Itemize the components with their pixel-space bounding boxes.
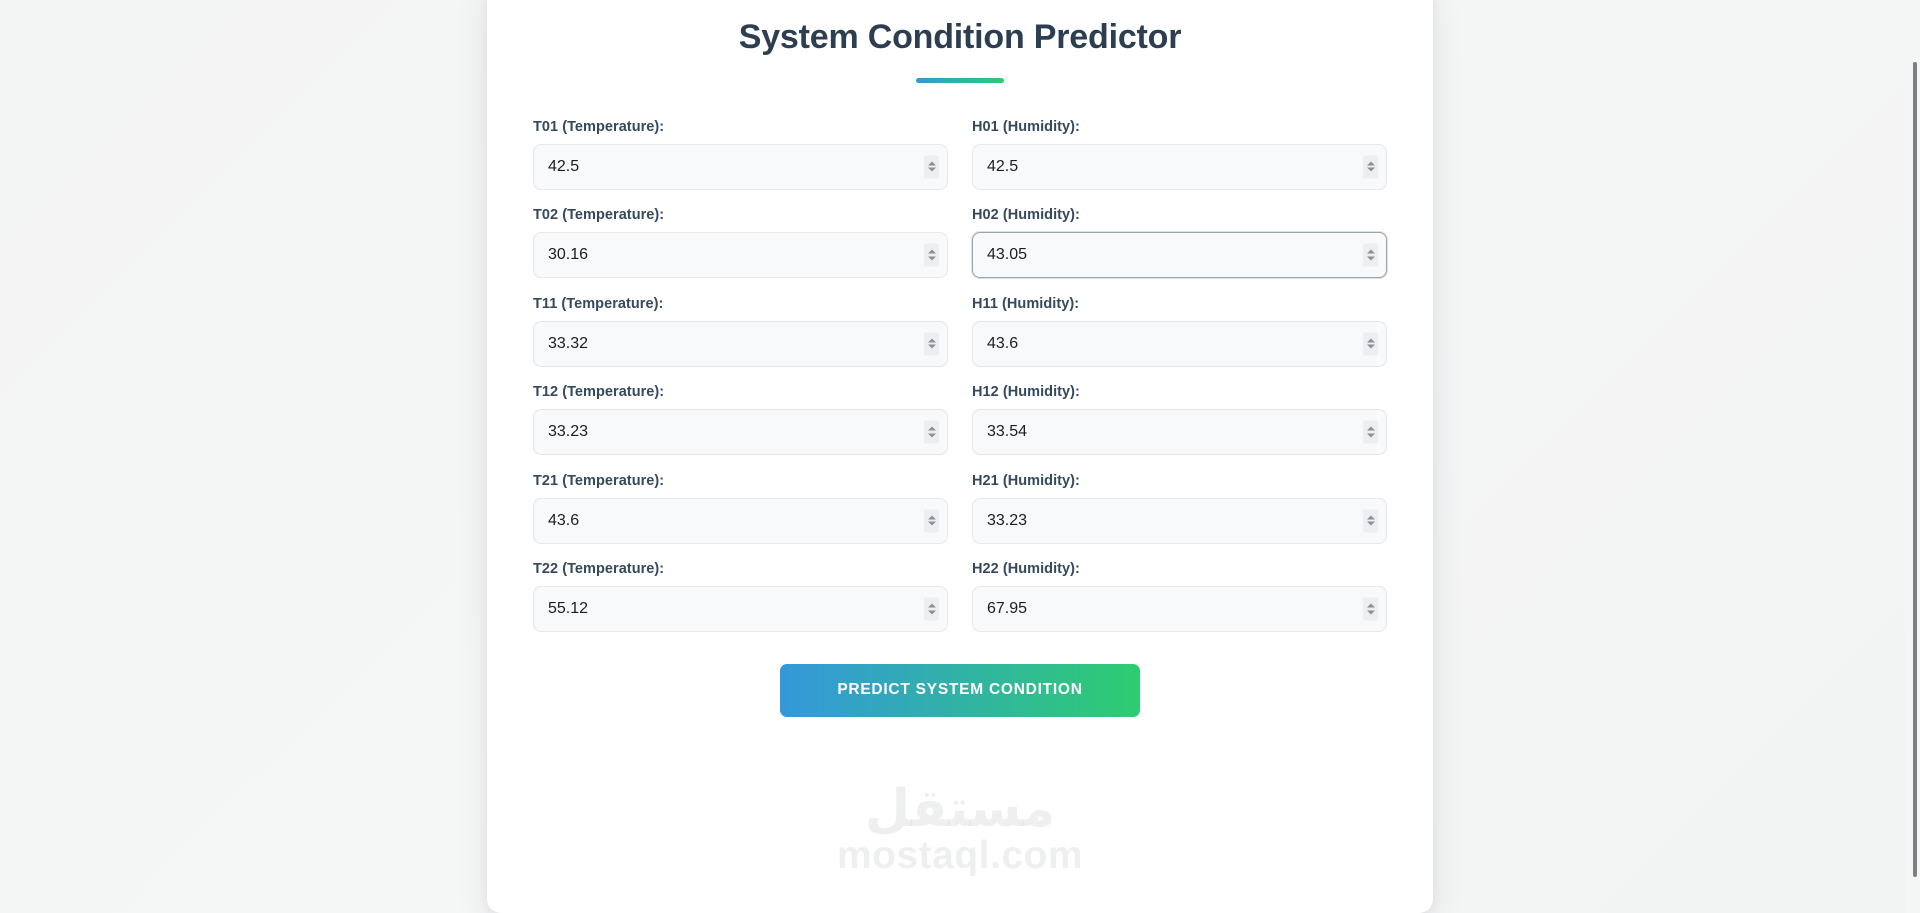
app-page: System Condition Predictor T01 (Temperat…: [0, 0, 1920, 913]
input-wrap-t02: [533, 232, 948, 278]
input-wrap-t12: [533, 409, 948, 455]
field-t01: T01 (Temperature):: [533, 119, 948, 190]
watermark: مستقل mostaql.com: [837, 785, 1083, 877]
input-wrap-h12: [972, 409, 1387, 455]
stepper-updown-icon[interactable]: [924, 332, 939, 355]
title-accent-rule: [916, 78, 1004, 83]
input-t01[interactable]: [533, 144, 948, 190]
input-t11[interactable]: [533, 321, 948, 367]
field-label-h01: H01 (Humidity):: [972, 119, 1387, 135]
stepper-updown-icon[interactable]: [924, 244, 939, 267]
field-t22: T22 (Temperature):: [533, 561, 948, 632]
predict-system-condition-button[interactable]: Predict System Condition: [780, 664, 1140, 717]
input-h11[interactable]: [972, 321, 1387, 367]
field-h11: H11 (Humidity):: [972, 296, 1387, 367]
stepper-updown-icon[interactable]: [1363, 244, 1378, 267]
stepper-updown-icon[interactable]: [1363, 598, 1378, 621]
field-t11: T11 (Temperature):: [533, 296, 948, 367]
stepper-updown-icon[interactable]: [1363, 421, 1378, 444]
input-wrap-h21: [972, 498, 1387, 544]
input-h12[interactable]: [972, 409, 1387, 455]
stepper-updown-icon[interactable]: [924, 155, 939, 178]
input-wrap-h01: [972, 144, 1387, 190]
field-label-h11: H11 (Humidity):: [972, 296, 1387, 312]
stepper-updown-icon[interactable]: [1363, 509, 1378, 532]
watermark-latin-text: mostaql.com: [837, 836, 1083, 877]
field-h12: H12 (Humidity):: [972, 384, 1387, 455]
vertical-scrollbar-track[interactable]: [1905, 0, 1920, 913]
input-h02[interactable]: [972, 232, 1387, 278]
field-h02: H02 (Humidity):: [972, 207, 1387, 278]
stepper-updown-icon[interactable]: [924, 598, 939, 621]
field-t02: T02 (Temperature):: [533, 207, 948, 278]
field-label-h02: H02 (Humidity):: [972, 207, 1387, 223]
field-h01: H01 (Humidity):: [972, 119, 1387, 190]
stepper-updown-icon[interactable]: [924, 421, 939, 444]
page-title: System Condition Predictor: [533, 16, 1387, 59]
input-wrap-h11: [972, 321, 1387, 367]
input-wrap-t22: [533, 586, 948, 632]
input-wrap-t21: [533, 498, 948, 544]
field-t21: T21 (Temperature):: [533, 473, 948, 544]
field-label-t22: T22 (Temperature):: [533, 561, 948, 577]
stepper-updown-icon[interactable]: [1363, 332, 1378, 355]
input-h22[interactable]: [972, 586, 1387, 632]
field-label-t12: T12 (Temperature):: [533, 384, 948, 400]
field-label-h22: H22 (Humidity):: [972, 561, 1387, 577]
input-wrap-h22: [972, 586, 1387, 632]
field-h21: H21 (Humidity):: [972, 473, 1387, 544]
prediction-form: T01 (Temperature):H01 (Humidity):T02 (Te…: [533, 119, 1387, 650]
input-t02[interactable]: [533, 232, 948, 278]
vertical-scrollbar-thumb[interactable]: [1913, 62, 1917, 877]
predictor-card: System Condition Predictor T01 (Temperat…: [487, 0, 1433, 913]
input-wrap-t11: [533, 321, 948, 367]
field-label-h12: H12 (Humidity):: [972, 384, 1387, 400]
field-label-t21: T21 (Temperature):: [533, 473, 948, 489]
input-t21[interactable]: [533, 498, 948, 544]
field-t12: T12 (Temperature):: [533, 384, 948, 455]
field-label-t11: T11 (Temperature):: [533, 296, 948, 312]
input-wrap-t01: [533, 144, 948, 190]
field-label-h21: H21 (Humidity):: [972, 473, 1387, 489]
stepper-updown-icon[interactable]: [1363, 155, 1378, 178]
field-h22: H22 (Humidity):: [972, 561, 1387, 632]
field-label-t02: T02 (Temperature):: [533, 207, 948, 223]
input-h21[interactable]: [972, 498, 1387, 544]
input-wrap-h02: [972, 232, 1387, 278]
input-t22[interactable]: [533, 586, 948, 632]
field-label-t01: T01 (Temperature):: [533, 119, 948, 135]
input-t12[interactable]: [533, 409, 948, 455]
input-h01[interactable]: [972, 144, 1387, 190]
stepper-updown-icon[interactable]: [924, 509, 939, 532]
submit-row: Predict System Condition: [533, 664, 1387, 717]
watermark-arabic-text: مستقل: [837, 785, 1083, 834]
